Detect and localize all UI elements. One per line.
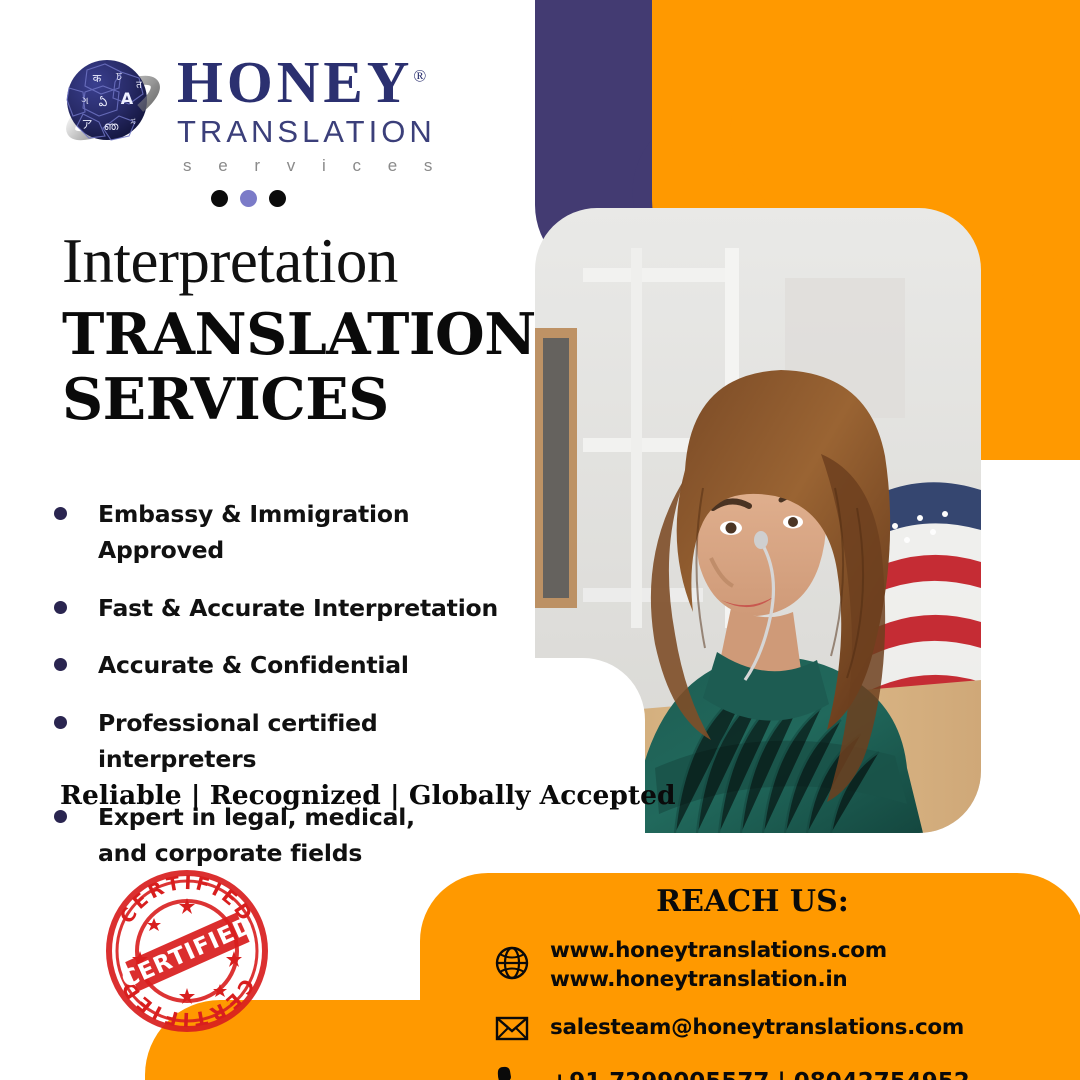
list-item: Accurate & Confidential bbox=[54, 647, 524, 683]
list-item: Professional certified interpreters bbox=[54, 705, 524, 778]
poster-canvas: क চ त ગ ఏ A ア ഞ ಸ HONEY® TRANSLATION bbox=[0, 0, 1080, 1080]
dots-separator bbox=[211, 190, 286, 207]
globe-icon bbox=[492, 943, 532, 983]
list-item-label: Embassy & Immigration Approved bbox=[98, 496, 524, 569]
svg-text:চ: চ bbox=[115, 70, 123, 83]
separator-dot-2 bbox=[240, 190, 257, 207]
website-url-1[interactable]: www.honeytranslations.com bbox=[550, 937, 887, 966]
globe-languages-icon: क চ त ગ ఏ A ア ഞ ಸ bbox=[55, 48, 163, 156]
registered-mark: ® bbox=[413, 66, 430, 85]
separator-dot-3 bbox=[269, 190, 286, 207]
headline-script-line: Interpretation bbox=[62, 230, 536, 293]
envelope-icon bbox=[492, 1008, 532, 1048]
bullet-dot-icon bbox=[54, 716, 67, 729]
list-item: Embassy & Immigration Approved bbox=[54, 496, 524, 569]
svg-text:ఏ: ఏ bbox=[99, 95, 108, 109]
website-url-2[interactable]: www.honeytranslation.in bbox=[550, 966, 887, 995]
hero-photo bbox=[535, 208, 981, 833]
logo-line-services: s e r v i c e s bbox=[177, 156, 443, 176]
certified-stamp-badge: CERTIFIED CERTIFIED CERTIFIED bbox=[104, 868, 270, 1034]
features-list: Embassy & Immigration Approved Fast & Ac… bbox=[54, 496, 524, 892]
svg-text:ഞ: ഞ bbox=[104, 120, 119, 133]
svg-text:A: A bbox=[121, 89, 134, 108]
svg-text:ಸ: ಸ bbox=[130, 116, 135, 127]
email-address[interactable]: salesteam@honeytranslations.com bbox=[550, 1014, 964, 1043]
headline-block: Interpretation TRANSLATION SERVICES bbox=[62, 230, 536, 433]
phone-number[interactable]: +91 7299005577 | 08042754952 bbox=[550, 1067, 970, 1080]
bullet-dot-icon bbox=[54, 507, 67, 520]
contact-row-email[interactable]: salesteam@honeytranslations.com bbox=[420, 1008, 1080, 1048]
phone-icon bbox=[492, 1062, 532, 1080]
svg-text:क: क bbox=[93, 72, 102, 85]
brand-logo: क চ त ગ ఏ A ア ഞ ಸ HONEY® TRANSLATION bbox=[55, 48, 443, 176]
contact-row-website[interactable]: www.honeytranslations.com www.honeytrans… bbox=[420, 937, 1080, 994]
headline-main-line2: SERVICES bbox=[62, 368, 536, 433]
bullet-dot-icon bbox=[54, 658, 67, 671]
separator-dot-1 bbox=[211, 190, 228, 207]
bullet-dot-icon bbox=[54, 601, 67, 614]
headline-main: TRANSLATION SERVICES bbox=[62, 303, 536, 433]
contact-row-phone[interactable]: +91 7299005577 | 08042754952 bbox=[420, 1062, 1080, 1080]
contact-block: REACH US: www.honeytranslations.com www.… bbox=[420, 880, 1080, 1080]
contact-heading: REACH US: bbox=[420, 884, 1080, 919]
list-item-label: Fast & Accurate Interpretation bbox=[98, 590, 498, 626]
list-item-label: Accurate & Confidential bbox=[98, 647, 409, 683]
list-item: Fast & Accurate Interpretation bbox=[54, 590, 524, 626]
svg-text:त: त bbox=[136, 80, 142, 91]
logo-line-translation: TRANSLATION bbox=[177, 114, 443, 150]
headline-main-line1: TRANSLATION bbox=[62, 303, 536, 368]
list-item-label: Professional certified interpreters bbox=[98, 705, 524, 778]
tagline: Reliable | Recognized | Globally Accepte… bbox=[60, 780, 676, 811]
logo-brand-text: HONEY bbox=[177, 49, 413, 115]
svg-text:ગ: ગ bbox=[81, 96, 88, 107]
logo-brand-name: HONEY® bbox=[177, 54, 443, 110]
svg-text:ア: ア bbox=[82, 118, 93, 131]
bullet-dot-icon bbox=[54, 810, 67, 823]
